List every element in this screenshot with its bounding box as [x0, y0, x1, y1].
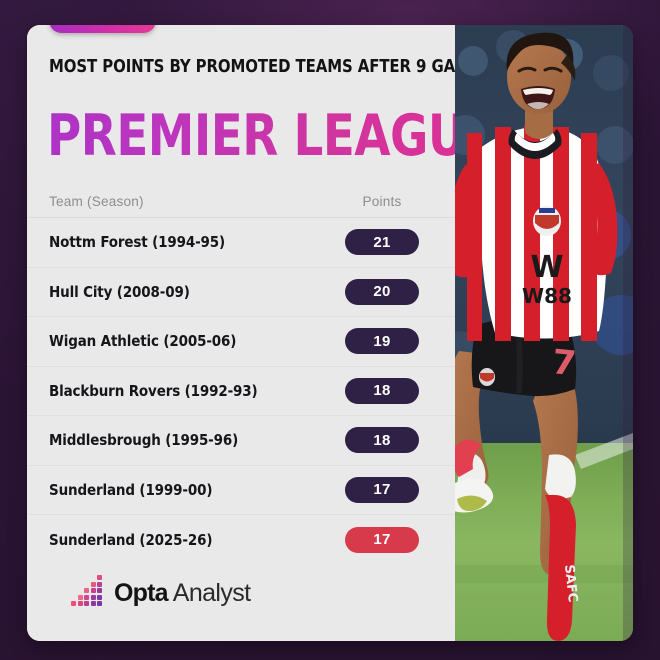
points-cell: 17 [323, 527, 455, 553]
table-row: Blackburn Rovers (1992-93) 18 [27, 367, 455, 417]
column-header-team: Team (Season) [49, 194, 323, 209]
points-badge: 21 [345, 229, 419, 255]
opta-analyst-wordmark: Opta Analyst [114, 579, 251, 608]
table-row: Sunderland (1999-00) 17 [27, 466, 455, 516]
points-badge: 20 [345, 279, 419, 305]
svg-text:W88: W88 [522, 284, 572, 308]
infographic-card: FOOTBALL MOST POINTS BY PROMOTED TEAMS A… [27, 25, 633, 641]
points-cell: 20 [323, 279, 455, 305]
points-cell: 18 [323, 427, 455, 453]
points-cell: 18 [323, 378, 455, 404]
svg-text:W: W [530, 250, 563, 285]
points-badge: 17 [345, 477, 419, 503]
logo-brand-bold: Opta [114, 579, 168, 608]
team-name: Sunderland (1999-00) [49, 481, 318, 499]
page-title: PREMIER LEAGUE [47, 108, 497, 165]
table-header-row: Team (Season) Points [27, 185, 455, 218]
team-name: Blackburn Rovers (1992-93) [49, 382, 318, 400]
logo-brand-light: Analyst [173, 579, 251, 608]
points-badge: 18 [345, 427, 419, 453]
points-badge-highlighted: 17 [345, 527, 419, 553]
points-badge: 19 [345, 328, 419, 354]
points-badge: 18 [345, 378, 419, 404]
table-row: Hull City (2008-09) 20 [27, 268, 455, 318]
team-name: Hull City (2008-09) [49, 283, 318, 301]
table-row: Nottm Forest (1994-95) 21 [27, 218, 455, 268]
team-name: Sunderland (2025-26) [49, 531, 318, 549]
points-cell: 21 [323, 229, 455, 255]
table-row: Middlesbrough (1995-96) 18 [27, 416, 455, 466]
content-pane: FOOTBALL MOST POINTS BY PROMOTED TEAMS A… [27, 25, 455, 641]
table-row: Wigan Athletic (2005-06) 19 [27, 317, 455, 367]
category-badge: FOOTBALL [49, 25, 156, 33]
team-name: Middlesbrough (1995-96) [49, 431, 318, 449]
team-name: Wigan Athletic (2005-06) [49, 332, 318, 350]
team-name: Nottm Forest (1994-95) [49, 233, 318, 251]
points-cell: 17 [323, 477, 455, 503]
page-subtitle: MOST POINTS BY PROMOTED TEAMS AFTER 9 GA… [49, 58, 431, 77]
svg-text:7: 7 [550, 342, 578, 384]
points-cell: 19 [323, 328, 455, 354]
player-photo: 7 [455, 25, 633, 641]
player-photo-illustration: 7 [455, 25, 633, 641]
points-table: Team (Season) Points Nottm Forest (1994-… [27, 185, 455, 565]
opta-bars-icon [71, 577, 105, 607]
opta-analyst-logo: Opta Analyst [71, 577, 251, 607]
table-row: Sunderland (2025-26) 17 [27, 515, 455, 565]
column-header-points: Points [323, 194, 455, 209]
category-badge-label: FOOTBALL [67, 25, 138, 28]
